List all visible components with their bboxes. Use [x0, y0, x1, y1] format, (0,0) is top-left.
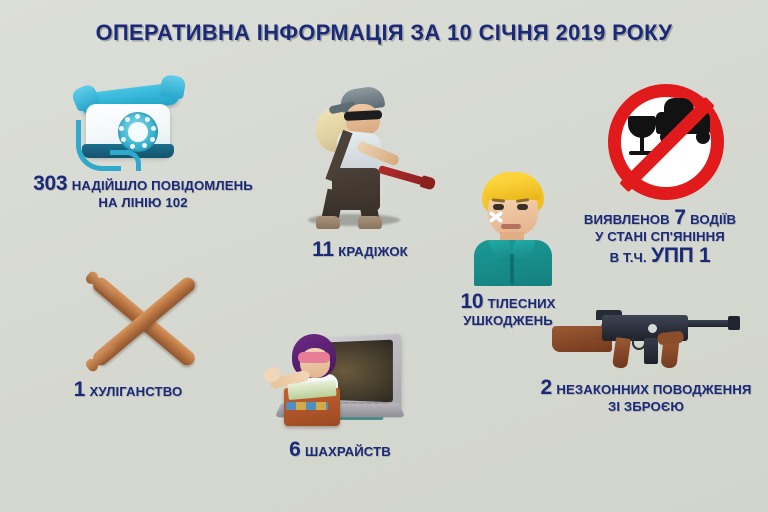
stat-hooliganism: 1 ХУЛІГАНСТВО: [26, 268, 230, 402]
stat-illegal-weapons: 2 НЕЗАКОННИХ ПОВОДЖЕННЯ ЗІ ЗБРОЄЮ: [528, 300, 764, 414]
burglar-crowbar: [378, 165, 430, 187]
stat-label-line3-prefix: В Т.Ч.: [610, 250, 647, 265]
wine-glass-stem: [640, 136, 644, 152]
stat-label-line3-emphasis: УПП 1: [651, 244, 710, 267]
page-title: ОПЕРАТИВНА ІНФОРМАЦІЯ ЗА 10 СІЧНЯ 2019 Р…: [12, 20, 757, 46]
stat-number: 11: [312, 238, 334, 261]
car-wheel-right: [696, 130, 710, 144]
stat-number: 303: [33, 172, 67, 195]
stat-number: 6: [289, 438, 300, 461]
stat-thefts: 11 КРАДІЖОК: [272, 86, 448, 262]
gun-muzzle: [728, 316, 740, 330]
laptop-fraud-icon: [248, 326, 432, 436]
gun-foregrip: [660, 337, 679, 369]
stat-drunk-drivers: ВИЯВЛЕНОВ 7 ВОДІЇВ У СТАНІ СП'ЯНІННЯ В Т…: [562, 80, 758, 268]
stat-caption-calls-102: 303 НАДІЙШЛО ПОВІДОМЛЕНЬ НА ЛІНІЮ 102: [10, 172, 276, 210]
burglar-icon: [272, 86, 448, 234]
no-drink-driving-icon: [562, 80, 758, 204]
burglar-boot-right: [358, 216, 382, 229]
stat-label-line2: ЗІ ЗБРОЄЮ: [528, 400, 764, 415]
person-eye-right: [517, 204, 528, 210]
injured-person-icon: [432, 170, 584, 288]
submachine-gun-icon: [528, 300, 764, 370]
infographic-poster: ОПЕРАТИВНА ІНФОРМАЦІЯ ЗА 10 СІЧНЯ 2019 Р…: [0, 0, 768, 512]
telephone-dial: [118, 112, 158, 152]
stat-calls-102: 303 НАДІЙШЛО ПОВІДОМЛЕНЬ НА ЛІНІЮ 102: [10, 82, 276, 210]
stat-caption-thefts: 11 КРАДІЖОК: [272, 238, 448, 262]
bandage-cross-icon: [488, 210, 504, 223]
stat-label-line1: КРАДІЖОК: [338, 244, 408, 259]
stat-label-line2: НА ЛІНІЮ 102: [10, 196, 276, 211]
burglar-boot-left: [316, 216, 340, 229]
stat-number: 7: [674, 206, 685, 229]
bank-cards-icon: [286, 402, 328, 410]
person-fringe: [484, 180, 542, 200]
stat-label-line1: НЕЗАКОННИХ ПОВОДЖЕННЯ: [556, 382, 751, 397]
gun-pistol-grip: [612, 337, 631, 369]
stat-label-line1: ШАХРАЙСТВ: [305, 444, 391, 459]
stat-caption-fraud: 6 ШАХРАЙСТВ: [248, 438, 432, 462]
stat-caption-illegal-weapons: 2 НЕЗАКОННИХ ПОВОДЖЕННЯ ЗІ ЗБРОЄЮ: [528, 376, 764, 414]
stat-number: 10: [460, 290, 483, 313]
crossed-baseball-bats-icon: [26, 268, 230, 378]
telephone-cord-curl: [110, 150, 141, 171]
rotary-telephone-icon: [10, 82, 276, 166]
stat-caption-hooliganism: 1 ХУЛІГАНСТВО: [26, 378, 230, 402]
gun-bolt-handle: [648, 324, 657, 333]
stat-caption-drunk-drivers: ВИЯВЛЕНОВ 7 ВОДІЇВ У СТАНІ СП'ЯНІННЯ В Т…: [562, 206, 758, 268]
stat-label-line1: ХУЛІГАНСТВО: [89, 384, 182, 399]
stat-label-line1: ВОДІЇВ: [690, 212, 736, 227]
person-shirt-placket: [510, 254, 514, 284]
fraudster-mask: [298, 352, 330, 363]
stat-number: 2: [541, 376, 552, 399]
stat-label-line1: НАДІЙШЛО ПОВІДОМЛЕНЬ: [72, 178, 253, 193]
gun-magazine: [644, 338, 658, 364]
person-mouth: [501, 224, 521, 229]
stat-fraud: 6 ШАХРАЙСТВ: [248, 326, 432, 462]
stat-prefix: ВИЯВЛЕНОВ: [584, 212, 670, 227]
stat-label-line2: У СТАНІ СП'ЯНІННЯ: [562, 230, 758, 245]
stat-number: 1: [74, 378, 85, 401]
